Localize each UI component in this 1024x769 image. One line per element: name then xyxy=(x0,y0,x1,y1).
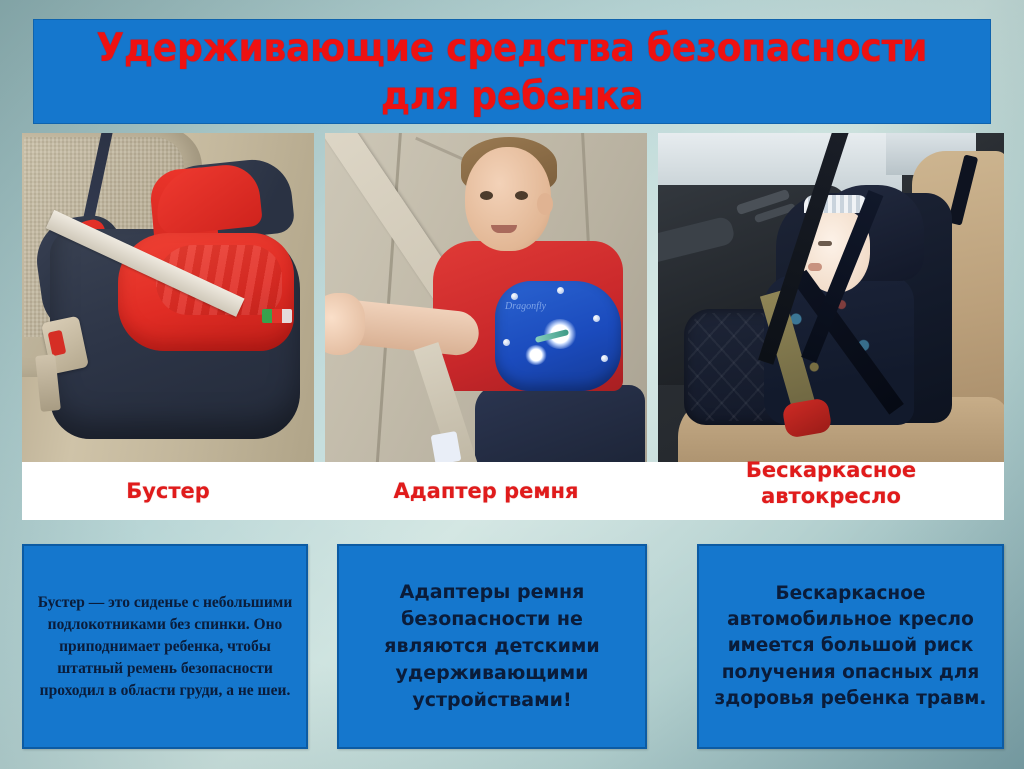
textbox-booster-description: Бустер — это сиденье с небольшими подлок… xyxy=(22,544,308,749)
infant-eye xyxy=(818,241,832,246)
caption-adapter: Адаптер ремня xyxy=(325,462,647,520)
child-left-eye xyxy=(480,191,493,200)
booster-brand-logo xyxy=(262,309,292,323)
car-window-left xyxy=(658,133,902,193)
caption-frameless: Бескаркасное автокресло xyxy=(658,446,1004,520)
seatbelt-label-tag xyxy=(431,431,462,463)
slide-root: Удерживающие средства безопасности для р… xyxy=(0,0,1024,769)
frameless-scene xyxy=(658,133,1004,463)
photo-belt-adapter: Dragonfly xyxy=(325,133,647,463)
adapter-stud-3 xyxy=(593,315,600,322)
caption-booster: Бустер xyxy=(22,462,314,520)
adapter-brand-text: Dragonfly xyxy=(505,301,546,312)
title-banner: Удерживающие средства безопасности для р… xyxy=(33,19,991,124)
adapter-scene: Dragonfly xyxy=(325,133,647,463)
adapter-stud-2 xyxy=(557,287,564,294)
textbox-frameless-warning: Бескаркасное автомобильное кресло имеетс… xyxy=(697,544,1004,749)
photo-strip: Dragonfly xyxy=(22,133,1004,463)
textbox-adapter-warning: Адаптеры ремня безопасности не являются … xyxy=(337,544,647,749)
adapter-flower-print-2 xyxy=(525,345,547,365)
adapter-stud-5 xyxy=(601,355,608,362)
adapter-stud-1 xyxy=(511,293,518,300)
caption-frameless-line2: автокресло xyxy=(761,483,901,509)
photo-frameless-car-seat xyxy=(658,133,1004,463)
page-title-line2: для ребенка xyxy=(381,72,643,122)
adapter-stud-4 xyxy=(503,339,510,346)
child-ear xyxy=(537,193,553,215)
page-title-line1: Удерживающие средства безопасности xyxy=(97,24,928,74)
caption-frameless-line1: Бескаркасное xyxy=(746,457,916,483)
child-mouth xyxy=(491,225,517,233)
booster-scene xyxy=(22,133,314,463)
child-right-eye xyxy=(515,191,528,200)
infant-mouth xyxy=(808,263,822,271)
photo-booster-seat xyxy=(22,133,314,463)
caption-band: Бустер Адаптер ремня Бескаркасное автокр… xyxy=(22,462,1004,520)
child-jeans xyxy=(475,385,645,463)
